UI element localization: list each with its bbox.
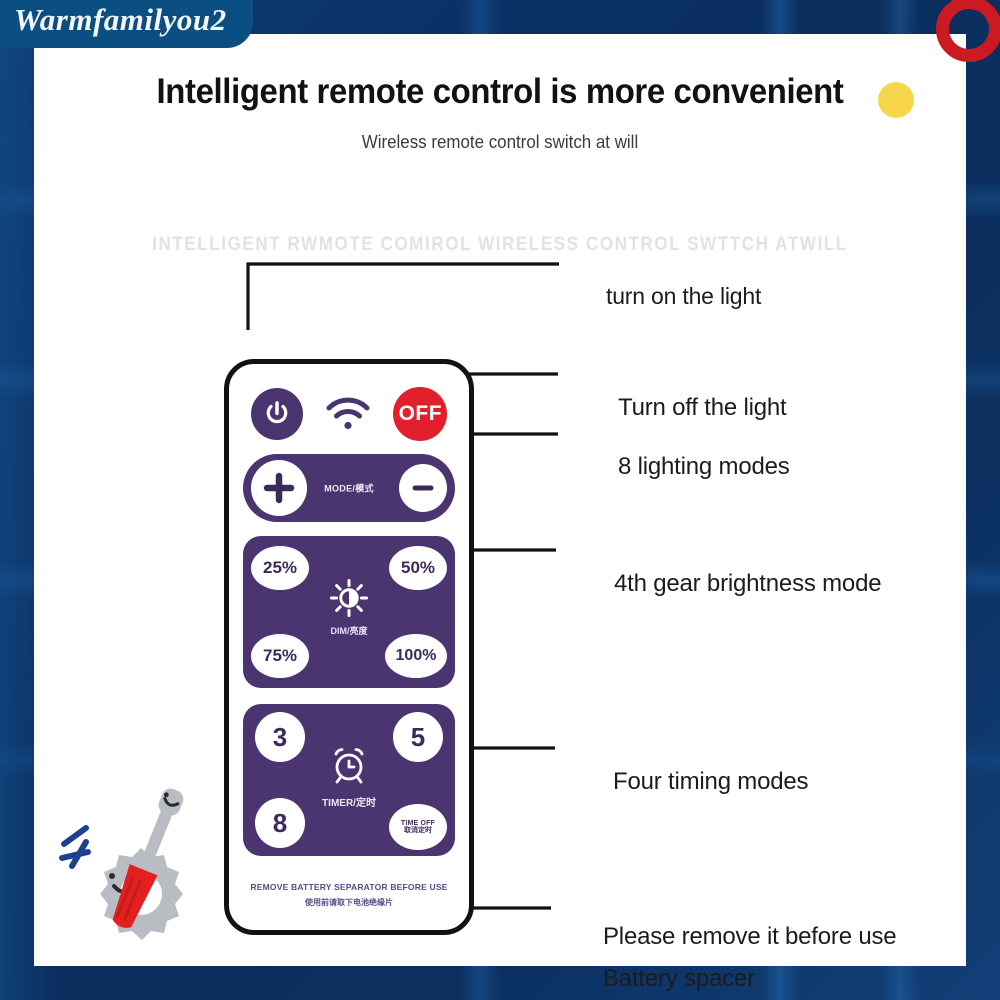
red-ring-decoration <box>936 0 1000 62</box>
off-button[interactable]: OFF <box>393 387 447 441</box>
mode-panel-label: MODE/模式 <box>324 482 374 495</box>
product-image-canvas: Intelligent remote control is more conve… <box>34 34 966 966</box>
timer-8h-button[interactable]: 8 <box>255 798 305 848</box>
mode-panel: + MODE/模式 - <box>243 454 455 522</box>
brightness-sun-icon <box>329 578 369 618</box>
battery-note-cn: 使用前请取下电池绝缘片 <box>229 897 469 908</box>
timer-panel-label: TIMER/定时 <box>322 794 376 809</box>
minus-icon <box>410 475 436 501</box>
callout-remove-line2: Battery spacer <box>603 965 755 993</box>
callout-remove-line1: Please remove it before use <box>603 923 896 951</box>
off-button-label: OFF <box>399 402 443 426</box>
timer-5h-button[interactable]: 5 <box>393 712 443 762</box>
mode-minus-button[interactable]: - <box>399 464 447 512</box>
sparkle-icon <box>62 828 88 866</box>
background-ghost-text: INTELLIGENT RWMOTE COMIROL WIRELESS CONT… <box>34 233 966 256</box>
timer-off-button[interactable]: TIME OFF 取消定时 <box>389 804 447 850</box>
page-title: Intelligent remote control is more conve… <box>62 72 938 112</box>
plus-icon <box>262 471 296 505</box>
battery-separator-note: REMOVE BATTERY SEPARATOR BEFORE USE 使用前请… <box>229 882 469 908</box>
brightness-100-button[interactable]: 100% <box>385 634 447 678</box>
watermark-banner: Warmfamilyou2 <box>0 0 253 48</box>
callout-turn-off: Turn off the light <box>618 394 787 422</box>
page-subtitle: Wireless remote control switch at will <box>62 132 938 153</box>
watermark-text: Warmfamilyou2 <box>14 2 227 37</box>
brightness-25-button[interactable]: 25% <box>251 546 309 590</box>
timer-off-label-en: TIME OFF <box>401 820 435 827</box>
callout-turn-on: turn on the light <box>606 283 761 310</box>
brightness-50-button[interactable]: 50% <box>389 546 447 590</box>
timer-3h-button[interactable]: 3 <box>255 712 305 762</box>
remote-control-device: OFF + MODE/模式 - 25% 50% 75% 100% <box>224 359 474 935</box>
power-icon <box>262 399 292 429</box>
brightness-75-button[interactable]: 75% <box>251 634 309 678</box>
remote-top-button-row: OFF <box>241 382 457 446</box>
gear-and-screwdriver-mascot <box>42 766 217 966</box>
alarm-clock-icon <box>328 744 370 786</box>
callout-brightness: 4th gear brightness mode <box>614 570 881 598</box>
callout-timing: Four timing modes <box>613 768 808 796</box>
brightness-panel: 25% 50% 75% 100% DIM/亮度 <box>243 536 455 688</box>
battery-note-en: REMOVE BATTERY SEPARATOR BEFORE USE <box>229 882 469 892</box>
mode-plus-button[interactable]: + <box>251 460 307 516</box>
wifi-icon <box>322 394 374 434</box>
timer-panel: 3 5 8 TIME OFF 取消定时 TIMER/定时 <box>243 704 455 856</box>
brightness-panel-label: DIM/亮度 <box>331 624 368 637</box>
yellow-dot-decoration <box>878 82 914 118</box>
power-button[interactable] <box>251 388 303 440</box>
timer-off-label-cn: 取消定时 <box>404 827 432 834</box>
callout-lighting-modes: 8 lighting modes <box>618 453 790 481</box>
